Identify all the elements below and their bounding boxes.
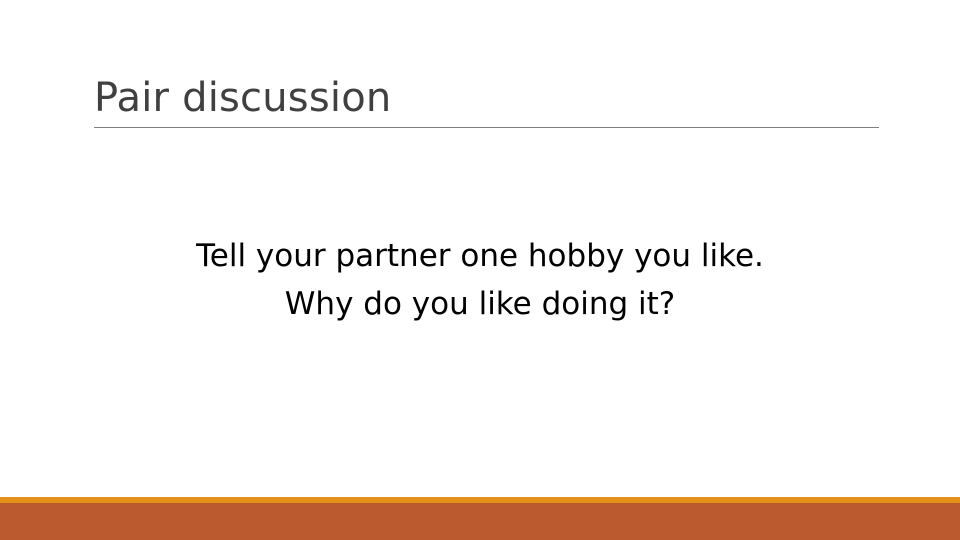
body-text-block: Tell your partner one hobby you like. Wh… [80, 232, 880, 328]
presentation-slide: Pair discussion Tell your partner one ho… [0, 0, 960, 540]
body-line-1: Tell your partner one hobby you like. [80, 232, 880, 280]
title-block: Pair discussion [94, 72, 880, 128]
title-underline-rule [94, 127, 879, 128]
body-line-2: Why do you like doing it? [80, 280, 880, 328]
page-title: Pair discussion [94, 72, 880, 124]
footer-band [0, 503, 960, 540]
